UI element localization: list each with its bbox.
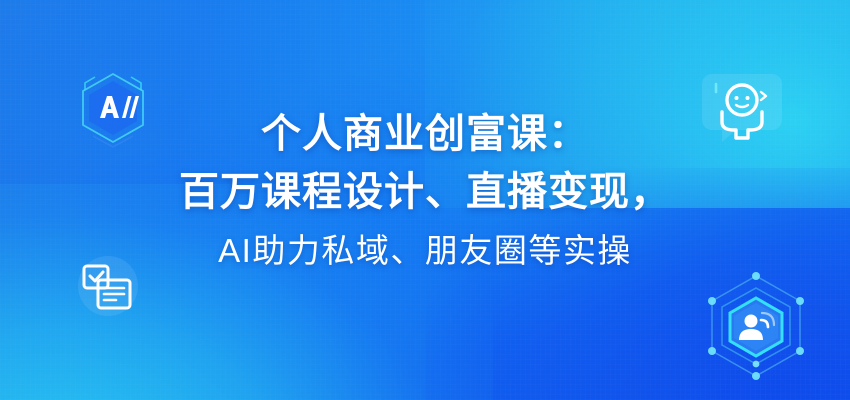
user-network-hexagon-icon xyxy=(696,268,816,384)
title-line-2: 百万课程设计、直播变现， xyxy=(40,166,810,218)
banner-title-block: 个人商业创富课： 百万课程设计、直播变现， AI助力私域、朋友圈等实操 xyxy=(0,108,850,273)
course-promo-banner: 个人商业创富课： 百万课程设计、直播变现， AI助力私域、朋友圈等实操 xyxy=(0,0,850,400)
title-line-1: 个人商业创富课： xyxy=(40,108,810,160)
title-line-3: AI助力私域、朋友圈等实操 xyxy=(40,230,810,273)
